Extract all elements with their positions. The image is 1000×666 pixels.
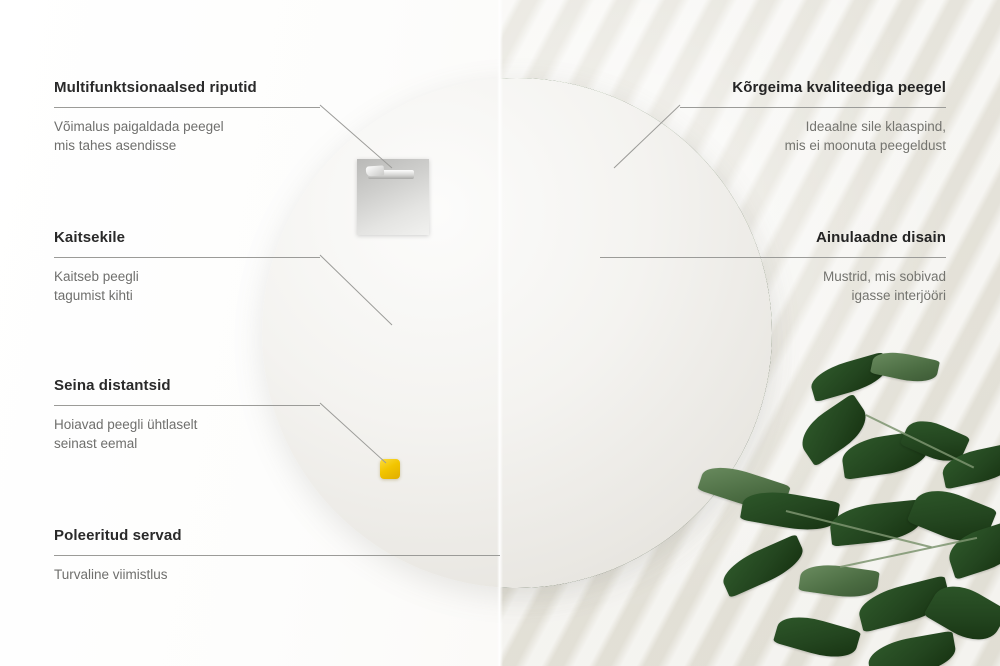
hanger-plate-detail — [357, 159, 429, 235]
callout-wall-spacers: Seina distantsid Hoiavad peegli ühtlasel… — [54, 378, 320, 454]
callout-title: Kõrgeima kvaliteediga peegel — [680, 80, 946, 97]
callout-rule — [54, 107, 320, 108]
callout-rule — [54, 555, 500, 556]
callout-title: Multifunktsionaalsed riputid — [54, 80, 320, 97]
hanger-bracket-icon — [368, 170, 414, 179]
callout-title: Kaitsekile — [54, 230, 320, 247]
wall-spacer-chip — [380, 459, 400, 479]
callout-title: Ainulaadne disain — [600, 230, 946, 247]
callout-title: Poleeritud servad — [54, 528, 500, 545]
leaf — [773, 609, 861, 664]
callout-polished-edges: Poleeritud servad Turvaline viimistlus — [54, 528, 500, 584]
callout-rule — [600, 257, 946, 258]
callout-protective-film: Kaitsekile Kaitseb peegli tagumist kihti — [54, 230, 320, 306]
callout-rule — [54, 257, 320, 258]
callout-description: Ideaalne sile klaaspind, mis ei moonuta … — [680, 117, 946, 156]
leaf — [798, 561, 879, 602]
callout-rule — [54, 405, 320, 406]
callout-description: Mustrid, mis sobivad igasse interjööri — [600, 267, 946, 306]
callout-unique-design: Ainulaadne disain Mustrid, mis sobivad i… — [600, 230, 946, 306]
callout-rule — [680, 107, 946, 108]
infographic-canvas: Multifunktsionaalsed riputid Võimalus pa… — [0, 0, 1000, 666]
leaf — [828, 499, 923, 546]
callout-quality-mirror: Kõrgeima kvaliteediga peegel Ideaalne si… — [680, 80, 946, 156]
callout-description: Kaitseb peegli tagumist kihti — [54, 267, 320, 306]
leaf — [717, 534, 809, 598]
ficus-branch-decor — [690, 354, 1000, 666]
callout-description: Turvaline viimistlus — [54, 565, 500, 585]
leaf — [870, 347, 940, 386]
leaf — [866, 631, 959, 666]
callout-description: Võimalus paigaldada peegel mis tahes ase… — [54, 117, 320, 156]
callout-title: Seina distantsid — [54, 378, 320, 395]
callout-description: Hoiavad peegli ühtlaselt seinast eemal — [54, 415, 320, 454]
callout-hangers: Multifunktsionaalsed riputid Võimalus pa… — [54, 80, 320, 156]
